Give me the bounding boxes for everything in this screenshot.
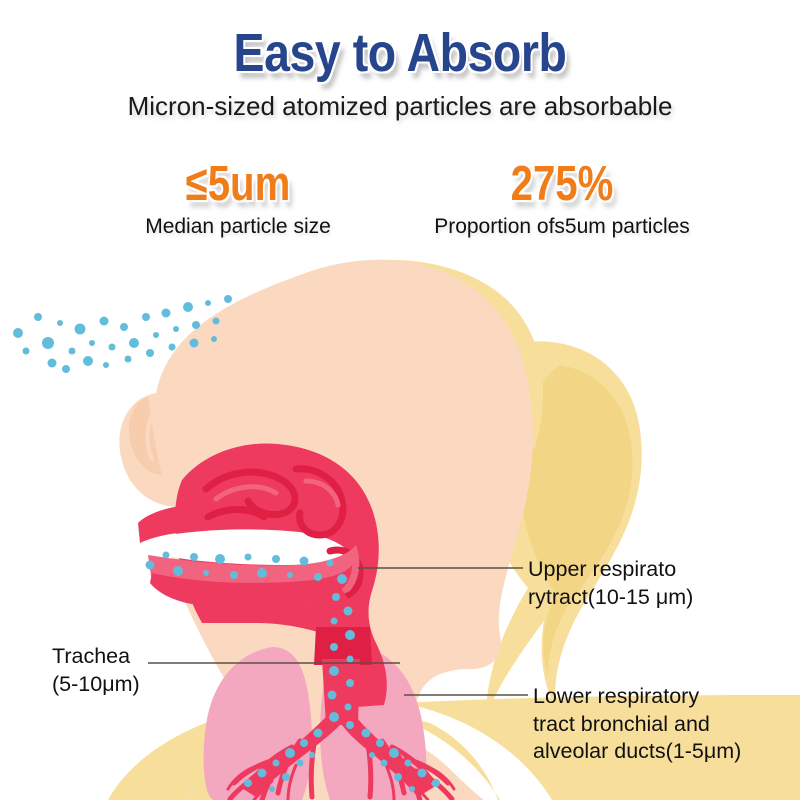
particle-dot [48, 359, 57, 368]
callout-trachea: Trachea (5-10μm) [52, 643, 140, 698]
particle-dot [173, 326, 179, 332]
particle-dot [297, 760, 304, 767]
trachea [322, 659, 360, 725]
particle-dot [369, 752, 375, 758]
particle-dot [300, 739, 308, 747]
particle-dot [224, 295, 232, 303]
particle-dot [142, 313, 150, 321]
particle-dot [346, 679, 354, 687]
particle-dot [394, 773, 402, 781]
particle-dot [205, 300, 211, 306]
particle-dot [211, 336, 217, 342]
particle-dot [13, 328, 23, 338]
stat-value: ≤5um [115, 160, 361, 209]
particle-dot [332, 593, 340, 601]
particle-dot [329, 666, 339, 676]
particle-dot [300, 557, 309, 566]
particle-dot [328, 691, 337, 700]
particle-dot [345, 704, 352, 711]
particle-dot [190, 339, 199, 348]
particle-dot [329, 712, 339, 722]
particle-dot [192, 321, 200, 329]
particle-dot [83, 356, 93, 366]
stat-proportion-particles: 275% Proportion ofs5um particles [412, 160, 712, 239]
particle-dot [23, 348, 30, 355]
particle-dot [120, 323, 128, 331]
particle-dot [405, 760, 412, 767]
particle-dot [287, 572, 293, 578]
particle-dot [100, 317, 109, 326]
particle-dot [183, 302, 193, 312]
particle-dot [230, 571, 238, 579]
particle-dot [215, 554, 225, 564]
particle-dot [162, 309, 171, 318]
particle-dot [309, 752, 315, 758]
callout-lower-respiratory-tract: Lower respiratory tract bronchial and al… [533, 683, 741, 766]
particle-dot [389, 748, 399, 758]
particle-dot [314, 729, 323, 738]
particle-dot [75, 324, 86, 335]
header: Easy to Absorb Micron-sized atomized par… [0, 0, 800, 121]
particle-dot [381, 760, 388, 767]
particle-dot [89, 340, 95, 346]
stat-label: Proportion ofs5um particles [412, 215, 712, 239]
stat-label: Median particle size [88, 215, 388, 239]
particle-dot [314, 573, 322, 581]
particle-dot [344, 607, 353, 616]
particle-dot [146, 561, 155, 570]
particle-dot [245, 554, 252, 561]
particle-dot [169, 344, 176, 351]
particle-dot [103, 362, 109, 368]
infographic-page: Easy to Absorb Micron-sized atomized par… [0, 0, 800, 800]
particle-dot [244, 779, 252, 787]
particle-dot [258, 769, 267, 778]
stats-row: ≤5um Median particle size 275% Proportio… [0, 160, 800, 239]
particle-dot [125, 356, 132, 363]
particle-dot [285, 748, 295, 758]
particle-dot [269, 786, 275, 792]
particle-dot [153, 332, 159, 338]
particle-dot [129, 338, 139, 348]
particle-dot [62, 365, 70, 373]
particle-dot [173, 566, 183, 576]
particle-dot [327, 560, 334, 567]
page-title: Easy to Absorb [56, 0, 744, 80]
particle-dot [109, 344, 116, 351]
particle-dot [273, 760, 280, 767]
particle-dot [57, 320, 63, 326]
particle-dot [203, 570, 209, 576]
particle-dot [272, 555, 280, 563]
page-subtitle: Micron-sized atomized particles are abso… [0, 80, 800, 121]
particle-dot [69, 348, 76, 355]
particle-dot [163, 552, 170, 559]
particle-dot [347, 656, 354, 663]
callout-upper-respiratory-tract: Upper respirato rytract(10-15 μm) [528, 556, 693, 611]
particle-dot [346, 721, 354, 729]
stat-value: 275% [439, 160, 685, 209]
particle-dot [418, 769, 427, 778]
particle-dot [432, 779, 440, 787]
particle-dot [282, 773, 290, 781]
particle-dot [42, 337, 54, 349]
particle-dot [257, 568, 267, 578]
particle-dot [213, 318, 220, 325]
particle-dot [330, 643, 338, 651]
particle-dot [331, 618, 338, 625]
particle-dot [337, 574, 347, 584]
particle-dot [345, 630, 355, 640]
particle-dot [362, 729, 371, 738]
particle-dot [376, 739, 384, 747]
particle-dot [409, 786, 415, 792]
particle-dot [146, 349, 154, 357]
particle-dot [34, 313, 42, 321]
stat-median-particle-size: ≤5um Median particle size [88, 160, 388, 239]
particle-dot [190, 553, 198, 561]
